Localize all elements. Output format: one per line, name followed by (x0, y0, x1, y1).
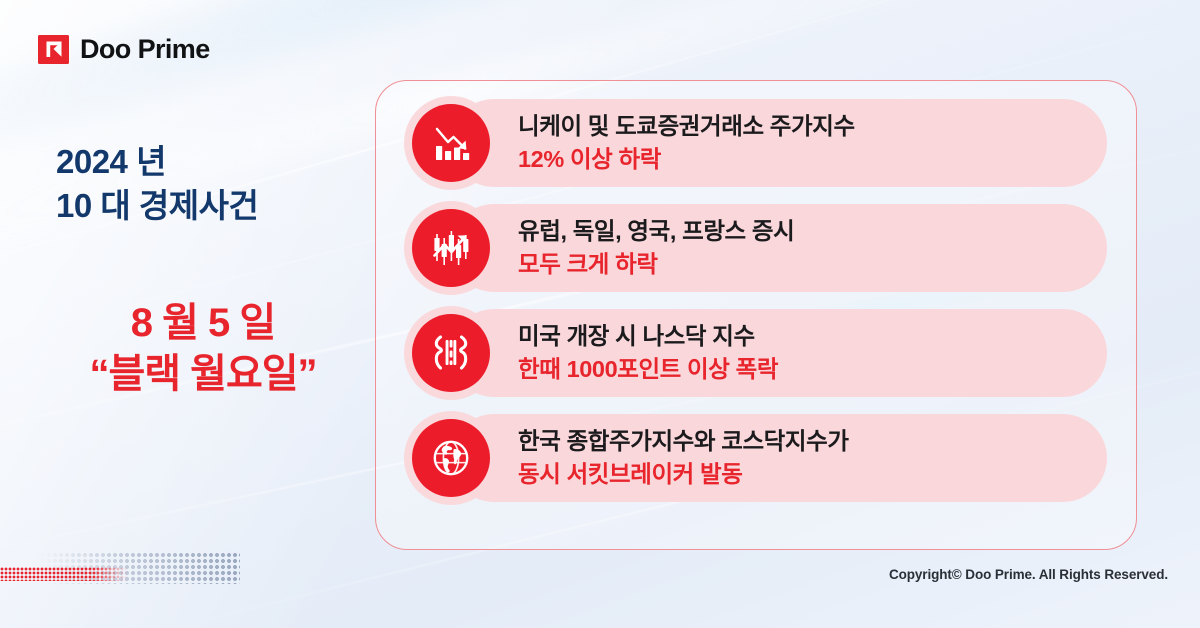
list-item-text: 한국 종합주가지수와 코스닥지수가 동시 서킷브레이커 발동 (518, 427, 849, 490)
highlights-panel: 니케이 및 도쿄증권거래소 주가지수 12% 이상 하락 (375, 80, 1137, 550)
red-dot-band (0, 567, 128, 581)
doo-prime-flag-mark-icon (38, 33, 71, 66)
highlights-list: 니케이 및 도쿄증권거래소 주가지수 12% 이상 하락 (376, 81, 1136, 549)
bar-chart-down-icon (412, 104, 490, 182)
list-item[interactable]: 니케이 및 도쿄증권거래소 주가지수 12% 이상 하락 (412, 99, 1107, 187)
page-subtitle: 8 월 5 일 “블랙 월요일” (38, 298, 368, 400)
poster-canvas: Doo Prime 2024 년 10 대 경제사건 8 월 5 일 “블랙 월… (0, 0, 1200, 628)
list-item-title: 니케이 및 도쿄증권거래소 주가지수 (518, 112, 855, 141)
globe-icon (412, 419, 490, 497)
list-item-highlight: 12% 이상 하락 (518, 144, 855, 175)
list-item-text: 유럽, 독일, 영국, 프랑스 증시 모두 크게 하락 (518, 217, 794, 280)
list-item[interactable]: 한국 종합주가지수와 코스닥지수가 동시 서킷브레이커 발동 (412, 414, 1107, 502)
candlestick-chart-icon (412, 209, 490, 287)
list-item-highlight: 한때 1000포인트 이상 폭락 (518, 354, 778, 385)
copyright-text: Copyright© Doo Prime. All Rights Reserve… (889, 567, 1168, 582)
list-item-text: 니케이 및 도쿄증권거래소 주가지수 12% 이상 하락 (518, 112, 855, 175)
list-item[interactable]: 미국 개장 시 나스닥 지수 한때 1000포인트 이상 폭락 (412, 309, 1107, 397)
page-title: 2024 년 10 대 경제사건 (56, 140, 258, 228)
dot-pattern-decoration (0, 552, 310, 600)
list-item-highlight: 모두 크게 하락 (518, 249, 794, 280)
list-item-highlight: 동시 서킷브레이커 발동 (518, 459, 849, 490)
list-item-title: 한국 종합주가지수와 코스닥지수가 (518, 427, 849, 456)
circuit-breaker-icon (412, 314, 490, 392)
list-item[interactable]: 유럽, 독일, 영국, 프랑스 증시 모두 크게 하락 (412, 204, 1107, 292)
list-item-title: 유럽, 독일, 영국, 프랑스 증시 (518, 217, 794, 246)
brand-name: Doo Prime (80, 34, 210, 65)
list-item-text: 미국 개장 시 나스닥 지수 한때 1000포인트 이상 폭락 (518, 322, 778, 385)
brand-logo[interactable]: Doo Prime (38, 33, 210, 66)
list-item-title: 미국 개장 시 나스닥 지수 (518, 322, 778, 351)
